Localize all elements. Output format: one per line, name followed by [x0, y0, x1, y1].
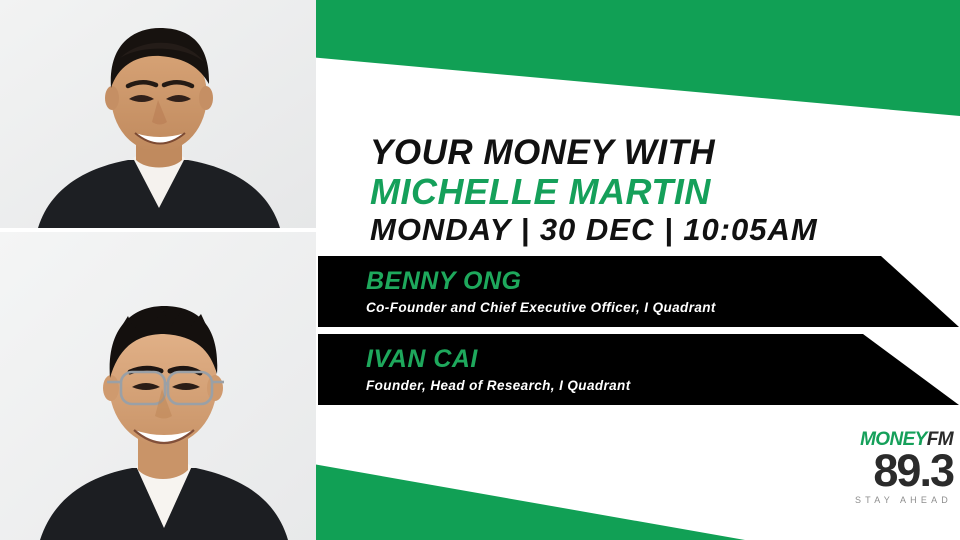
- speaker-bar-2-shape: [0, 0, 960, 540]
- logo-frequency: 89.3: [841, 449, 953, 492]
- speaker-2-name: IVAN CAI: [366, 347, 631, 372]
- logo-tagline: STAY AHEAD: [841, 495, 953, 505]
- speaker-2-role: Founder, Head of Research, I Quadrant: [366, 379, 631, 393]
- moneyfm-logo: MONEYFM 89.3 STAY AHEAD: [841, 430, 953, 526]
- speaker-bar-2-text: IVAN CAI Founder, Head of Research, I Qu…: [366, 347, 631, 393]
- promo-graphic: YOUR MONEY WITH MICHELLE MARTIN MONDAY |…: [0, 0, 960, 540]
